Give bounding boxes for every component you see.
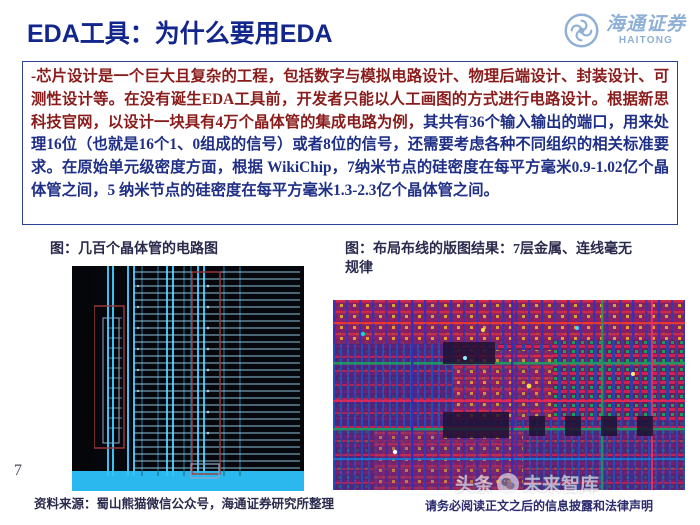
page-number: 7	[14, 462, 22, 480]
body-text-box: -芯片设计是一个巨大且复杂的工程，包括数字与模拟电路设计、物理后端设计、封装设计…	[22, 61, 678, 225]
slide-root: EDA工具：为什么要用EDA 海通证券 HAITONG -芯片设计是一个巨大且复…	[0, 0, 700, 525]
transistor-schematic-icon	[72, 266, 304, 491]
figure-left-caption: 图：几百个晶体管的电路图	[50, 240, 218, 259]
logo-chinese-name: 海通证券	[606, 15, 686, 34]
slide-header: EDA工具：为什么要用EDA 海通证券 HAITONG	[0, 0, 700, 60]
figure-left-schematic	[72, 266, 304, 491]
haitong-circular-emblem-icon	[564, 13, 599, 48]
haitong-logo: 海通证券 HAITONG	[564, 13, 686, 48]
body-paragraph: -芯片设计是一个巨大且复杂的工程，包括数字与模拟电路设计、物理后端设计、封装设计…	[31, 66, 669, 203]
figure-right-caption: 图：布局布线的版图结果：7层金属、连线毫无规律	[345, 240, 645, 278]
legal-disclaimer: 请务必阅读正文之后的信息披露和法律声明	[425, 497, 653, 514]
ic-layout-routing-icon	[333, 300, 685, 490]
logo-english-name: HAITONG	[619, 36, 673, 46]
page-title: EDA工具：为什么要用EDA	[27, 14, 333, 50]
logo-text-block: 海通证券 HAITONG	[606, 15, 686, 46]
figure-right-layout	[333, 300, 685, 490]
source-note: 资料来源：蜀山熊猫微信公众号，海通证券研究所整理	[34, 493, 334, 512]
